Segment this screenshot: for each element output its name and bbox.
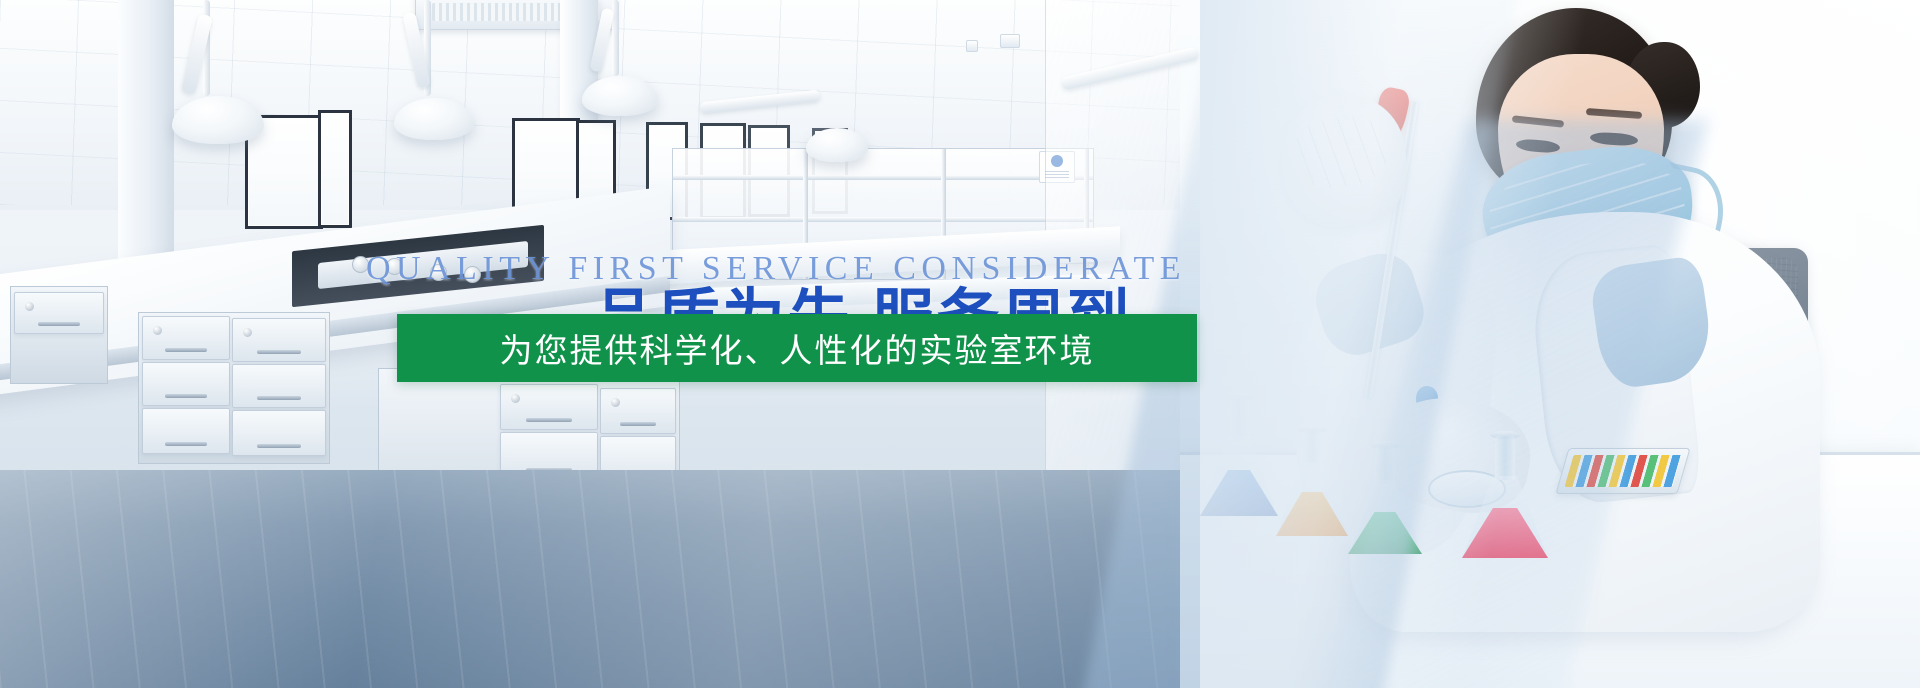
english-tagline: QUALITY FIRST SERVICE CONSIDERATE <box>366 250 1186 288</box>
subtitle-green-bar: 为您提供科学化、人性化的实验室环境 <box>397 314 1197 382</box>
subtitle-text: 为您提供科学化、人性化的实验室环境 <box>500 324 1095 372</box>
banner-text-overlay: QUALITY FIRST SERVICE CONSIDERATE 品质为先 服… <box>0 0 1920 688</box>
lab-promo-banner: QUALITY FIRST SERVICE CONSIDERATE 品质为先 服… <box>0 0 1920 688</box>
